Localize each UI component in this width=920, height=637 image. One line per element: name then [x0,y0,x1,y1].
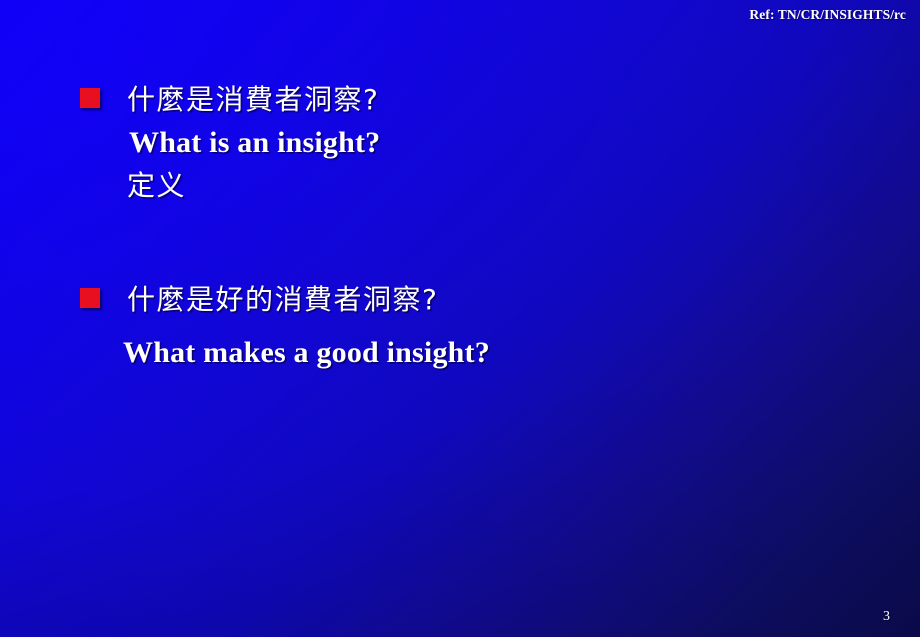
red-square-bullet-icon [80,88,100,108]
bullet-1-line-english-question: What is an insight? [129,122,380,164]
red-square-bullet-icon [80,288,100,308]
bullet-2-line-cjk-question: 什麼是好的消費者洞察? [127,282,490,318]
bullet-group-2: 什麼是好的消費者洞察? What makes a good insight? [80,282,490,374]
bullet-group-1-lines: 什麼是消費者洞察? What is an insight? 定义 [127,82,380,204]
reference-header: Ref: TN/CR/INSIGHTS/rc [749,7,906,23]
bullet-group-2-lines: 什麼是好的消費者洞察? What makes a good insight? [127,282,490,374]
page-number: 3 [883,609,890,625]
bullet-1-line-cjk-definition: 定义 [127,168,380,204]
bullet-2-line-english-question: What makes a good insight? [123,332,490,374]
bullet-group-1: 什麼是消費者洞察? What is an insight? 定义 [80,82,380,204]
slide-content-layer: Ref: TN/CR/INSIGHTS/rc 什麼是消費者洞察? What is… [0,0,920,637]
bullet-1-line-cjk-question: 什麼是消費者洞察? [127,82,380,118]
presentation-slide: Ref: TN/CR/INSIGHTS/rc 什麼是消費者洞察? What is… [0,0,920,637]
